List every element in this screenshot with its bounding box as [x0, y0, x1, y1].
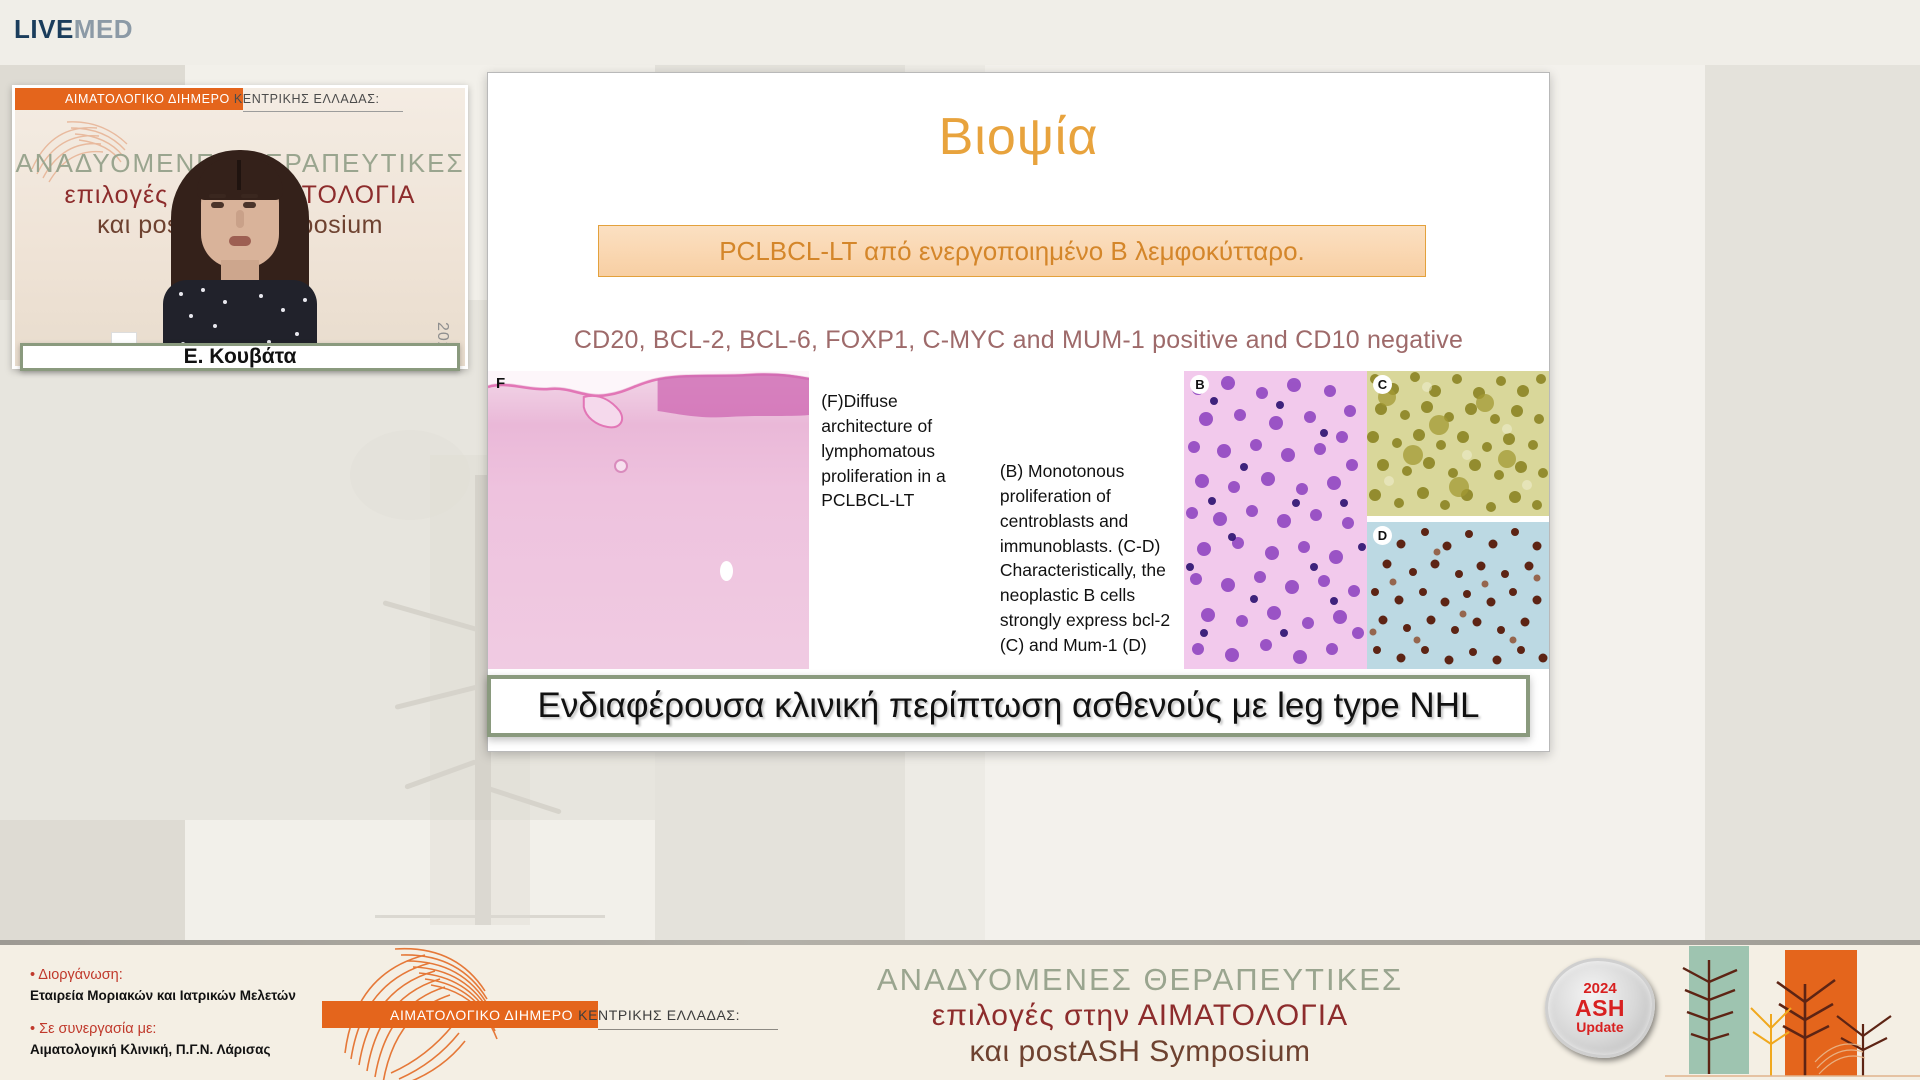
histology-panels-cd: C	[1367, 371, 1549, 669]
speaker-eye-right	[243, 202, 256, 208]
ash-update-badge: 2024 ASH Update	[1545, 958, 1655, 1058]
speaker-mouth	[229, 236, 251, 246]
panel-f-vacuole	[720, 561, 733, 581]
histology-panel-f: F	[488, 371, 809, 669]
panel-f-caption: (F)Diffuse architecture of lymphomatous …	[809, 371, 992, 669]
ash-name: ASH	[1575, 997, 1625, 1021]
panel-f-epidermis	[488, 371, 809, 431]
speaker-video-player[interactable]: ΑΙΜΑΤΟΛΟΓΙΚΟ ΔΙΗΜΕΡΟ ΚΕΝΤΡΙΚΗΣ ΕΛΛΑΔΑΣ: …	[12, 85, 468, 369]
organizer-value: Εταιρεία Μοριακών και Ιατρικών Μελετών	[30, 986, 296, 1006]
speaker-name-plate: Ε. Κουβάτα	[20, 343, 460, 371]
speaker-nose	[236, 210, 244, 228]
logo-live-text: LIVE	[14, 14, 74, 44]
video-header-underline	[243, 111, 403, 112]
panel-c-label: C	[1373, 375, 1392, 394]
histology-panel-c: C	[1367, 371, 1549, 516]
background-band-6	[1705, 0, 1920, 1080]
presentation-slide[interactable]: Βιοψία PCLBCL-LT από ενεργοποιημένο Β λε…	[487, 72, 1550, 752]
footer-trees-illustration	[1665, 942, 1920, 1080]
video-header-orange-label: ΑΙΜΑΤΟΛΟΓΙΚΟ ΔΙΗΜΕΡΟ	[15, 92, 230, 106]
logo-med-text: MED	[74, 14, 133, 44]
collaborator-label: • Σε συνεργασία με:	[30, 1019, 296, 1040]
livemed-logo: LIVEMED	[14, 14, 133, 45]
event-bar-underline	[598, 1029, 778, 1030]
video-header-plain-label: ΚΕΝΤΡΙΚΗΣ ΕΛΛΑΔΑΣ:	[230, 92, 380, 106]
organizer-label: • Διοργάνωση:	[30, 965, 296, 986]
video-header-text: ΑΙΜΑΤΟΛΟΓΙΚΟ ΔΙΗΜΕΡΟ ΚΕΝΤΡΙΚΗΣ ΕΛΛΑΔΑΣ:	[15, 88, 465, 110]
background-top-strip	[0, 0, 1920, 65]
event-bar-text: ΑΙΜΑΤΟΛΟΓΙΚΟ ΔΙΗΜΕΡΟ ΚΕΝΤΡΙΚΗΣ ΕΛΛΑΔΑΣ:	[322, 1001, 792, 1028]
organizer-block: • Διοργάνωση: Εταιρεία Μοριακών και Ιατρ…	[30, 965, 296, 1059]
speaker-brow-left	[209, 194, 226, 198]
event-bar-orange-label: ΑΙΜΑΤΟΛΟΓΙΚΟ ΔΙΗΜΕΡΟ	[322, 1007, 573, 1023]
slide-banner-text: PCLBCL-LT από ενεργοποιημένο Β λεμφοκύττ…	[719, 236, 1305, 267]
session-title-text: Ενδιαφέρουσα κλινική περίπτωση ασθενούς …	[538, 686, 1480, 726]
panel-c-stain	[1367, 371, 1549, 516]
ash-badge-text: 2024 ASH Update	[1545, 958, 1655, 1058]
slide-markers-line: CD20, BCL-2, BCL-6, FOXP1, C-MYC and MUM…	[488, 326, 1549, 355]
panel-f-follicle	[614, 459, 628, 473]
panel-b-caption: (B) Monotonous proliferation of centrobl…	[992, 371, 1185, 669]
slide-title: Βιοψία	[488, 107, 1549, 167]
slide-highlight-banner: PCLBCL-LT από ενεργοποιημένο Β λεμφοκύττ…	[598, 225, 1426, 277]
footer-top-rule	[0, 940, 1920, 945]
session-title-strip: Ενδιαφέρουσα κλινική περίπτωση ασθενούς …	[487, 675, 1530, 737]
speaker-figure	[145, 150, 335, 369]
video-frame: ΑΙΜΑΤΟΛΟΓΙΚΟ ΔΙΗΜΕΡΟ ΚΕΝΤΡΙΚΗΣ ΕΛΛΑΔΑΣ: …	[15, 88, 465, 366]
histology-panel-b: B	[1184, 371, 1367, 669]
ash-update-label: Update	[1576, 1020, 1623, 1035]
speaker-brow-right	[241, 194, 258, 198]
panel-b-cells	[1184, 371, 1367, 669]
event-title-line-1: ΑΝΑΔΥΟΜΕΝΕΣ ΘΕΡΑΠΕΥΤΙΚΕΣ	[790, 961, 1490, 998]
figure-row: F (F)Diffuse architecture of lymphomatou…	[488, 371, 1549, 669]
event-title-line-2: επιλογές στην ΑΙΜΑΤΟΛΟΓΙΑ	[790, 998, 1490, 1034]
background-foliage-decoration	[350, 420, 490, 540]
panel-d-stain	[1367, 522, 1549, 669]
event-title-block: ΑΝΑΔΥΟΜΕΝΕΣ ΘΕΡΑΠΕΥΤΙΚΕΣ επιλογές στην Α…	[790, 961, 1490, 1070]
event-title-line-3: και postASH Symposium	[790, 1034, 1490, 1070]
panel-d-label: D	[1373, 526, 1392, 545]
event-bar-plain-label: ΚΕΝΤΡΙΚΗΣ ΕΛΛΑΔΑΣ:	[573, 1007, 740, 1023]
panel-f-label: F	[496, 375, 505, 392]
speaker-name-text: Ε. Κουβάτα	[23, 346, 457, 368]
collaborator-value: Αιματολογική Κλινική, Π.Γ.Ν. Λάρισας	[30, 1040, 296, 1060]
trees-svg	[1665, 942, 1920, 1080]
speaker-eye-left	[211, 202, 224, 208]
histology-panel-d: D	[1367, 522, 1549, 669]
speaker-hair-part	[237, 160, 241, 190]
session-title-inner: Ενδιαφέρουσα κλινική περίπτωση ασθενούς …	[491, 679, 1526, 733]
